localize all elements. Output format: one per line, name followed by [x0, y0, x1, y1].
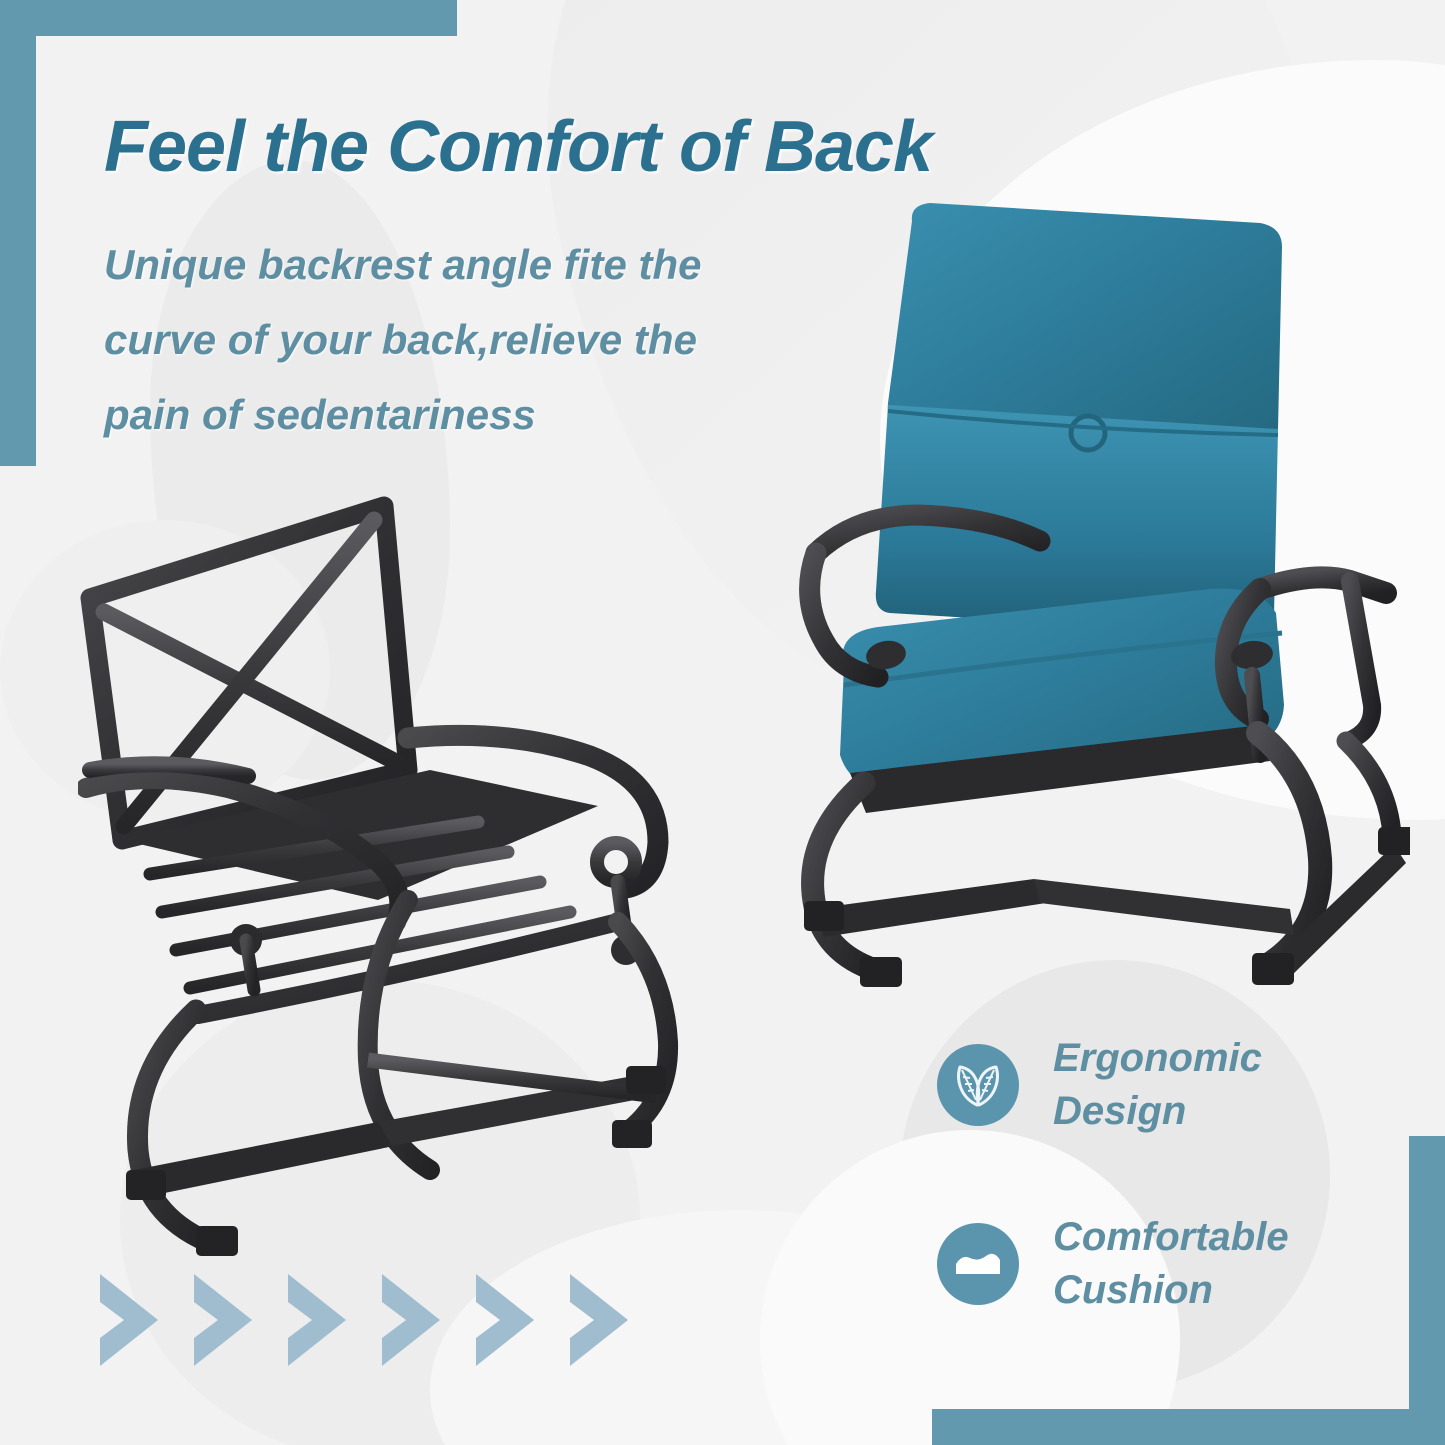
leaf-icon — [950, 1057, 1006, 1113]
feature-label-line-1: Ergonomic — [1053, 1032, 1262, 1085]
background-blob — [900, 960, 1330, 1390]
corner-bracket-bottom-right-horizontal — [932, 1409, 1445, 1445]
chair-foot — [126, 1170, 166, 1200]
feature-label: Comfortable Cushion — [1053, 1211, 1289, 1317]
leaf-icon-badge — [937, 1044, 1019, 1126]
cushion-icon — [948, 1234, 1008, 1294]
chevron-right-icon — [190, 1268, 262, 1372]
feature-ergonomic-design: Ergonomic Design — [937, 1032, 1262, 1138]
chair-foot — [860, 957, 902, 987]
feature-comfortable-cushion: Comfortable Cushion — [937, 1211, 1289, 1317]
chair-foot — [196, 1226, 238, 1256]
corner-bracket-top-left-horizontal — [0, 0, 457, 36]
armrest-post-left — [246, 940, 254, 990]
base-rail-rear — [368, 1060, 656, 1096]
chevron-right-icon — [472, 1268, 544, 1372]
armrest-right — [1260, 577, 1386, 593]
chevron-right-icon — [378, 1268, 450, 1372]
chair-foot — [1252, 953, 1294, 985]
base-rail-left — [812, 879, 1046, 937]
chair-foot — [804, 901, 844, 931]
base-rail-left — [134, 1122, 394, 1196]
page-title: Feel the Comfort of Back — [104, 106, 932, 188]
subtitle-block: Unique backrest angle fite the curve of … — [104, 228, 824, 452]
subtitle-line-1: Unique backrest angle fite the — [104, 228, 824, 303]
feature-label-line-1: Comfortable — [1053, 1211, 1289, 1264]
chevron-arrow-row — [96, 1268, 638, 1372]
cushion-icon-badge — [937, 1223, 1019, 1305]
metal-chair-frame — [78, 470, 718, 1260]
corner-bracket-top-left-vertical — [0, 0, 36, 466]
chevron-right-icon — [566, 1268, 638, 1372]
feature-label-line-2: Design — [1053, 1085, 1262, 1138]
chair-foot — [626, 1066, 666, 1094]
c-spring-leg-rear-right — [1346, 741, 1392, 835]
chevron-right-icon — [284, 1268, 356, 1372]
feature-label-line-2: Cushion — [1053, 1264, 1289, 1317]
backrest-cross-brace — [104, 612, 396, 762]
chair-foot — [612, 1120, 652, 1148]
c-spring-leg-front-left — [137, 1010, 208, 1242]
cushioned-chair — [790, 185, 1410, 1005]
corner-bracket-bottom-right-vertical — [1409, 1136, 1445, 1445]
feature-label: Ergonomic Design — [1053, 1032, 1262, 1138]
marketing-banner: Feel the Comfort of Back Unique backrest… — [0, 0, 1445, 1445]
base-rail-cross — [1034, 879, 1294, 935]
chevron-right-icon — [96, 1268, 168, 1372]
side-rail-right — [1348, 581, 1372, 741]
chair-foot — [1378, 827, 1410, 855]
subtitle-line-2: curve of your back,relieve the — [104, 303, 824, 378]
subtitle-line-3: pain of sedentariness — [104, 378, 824, 453]
